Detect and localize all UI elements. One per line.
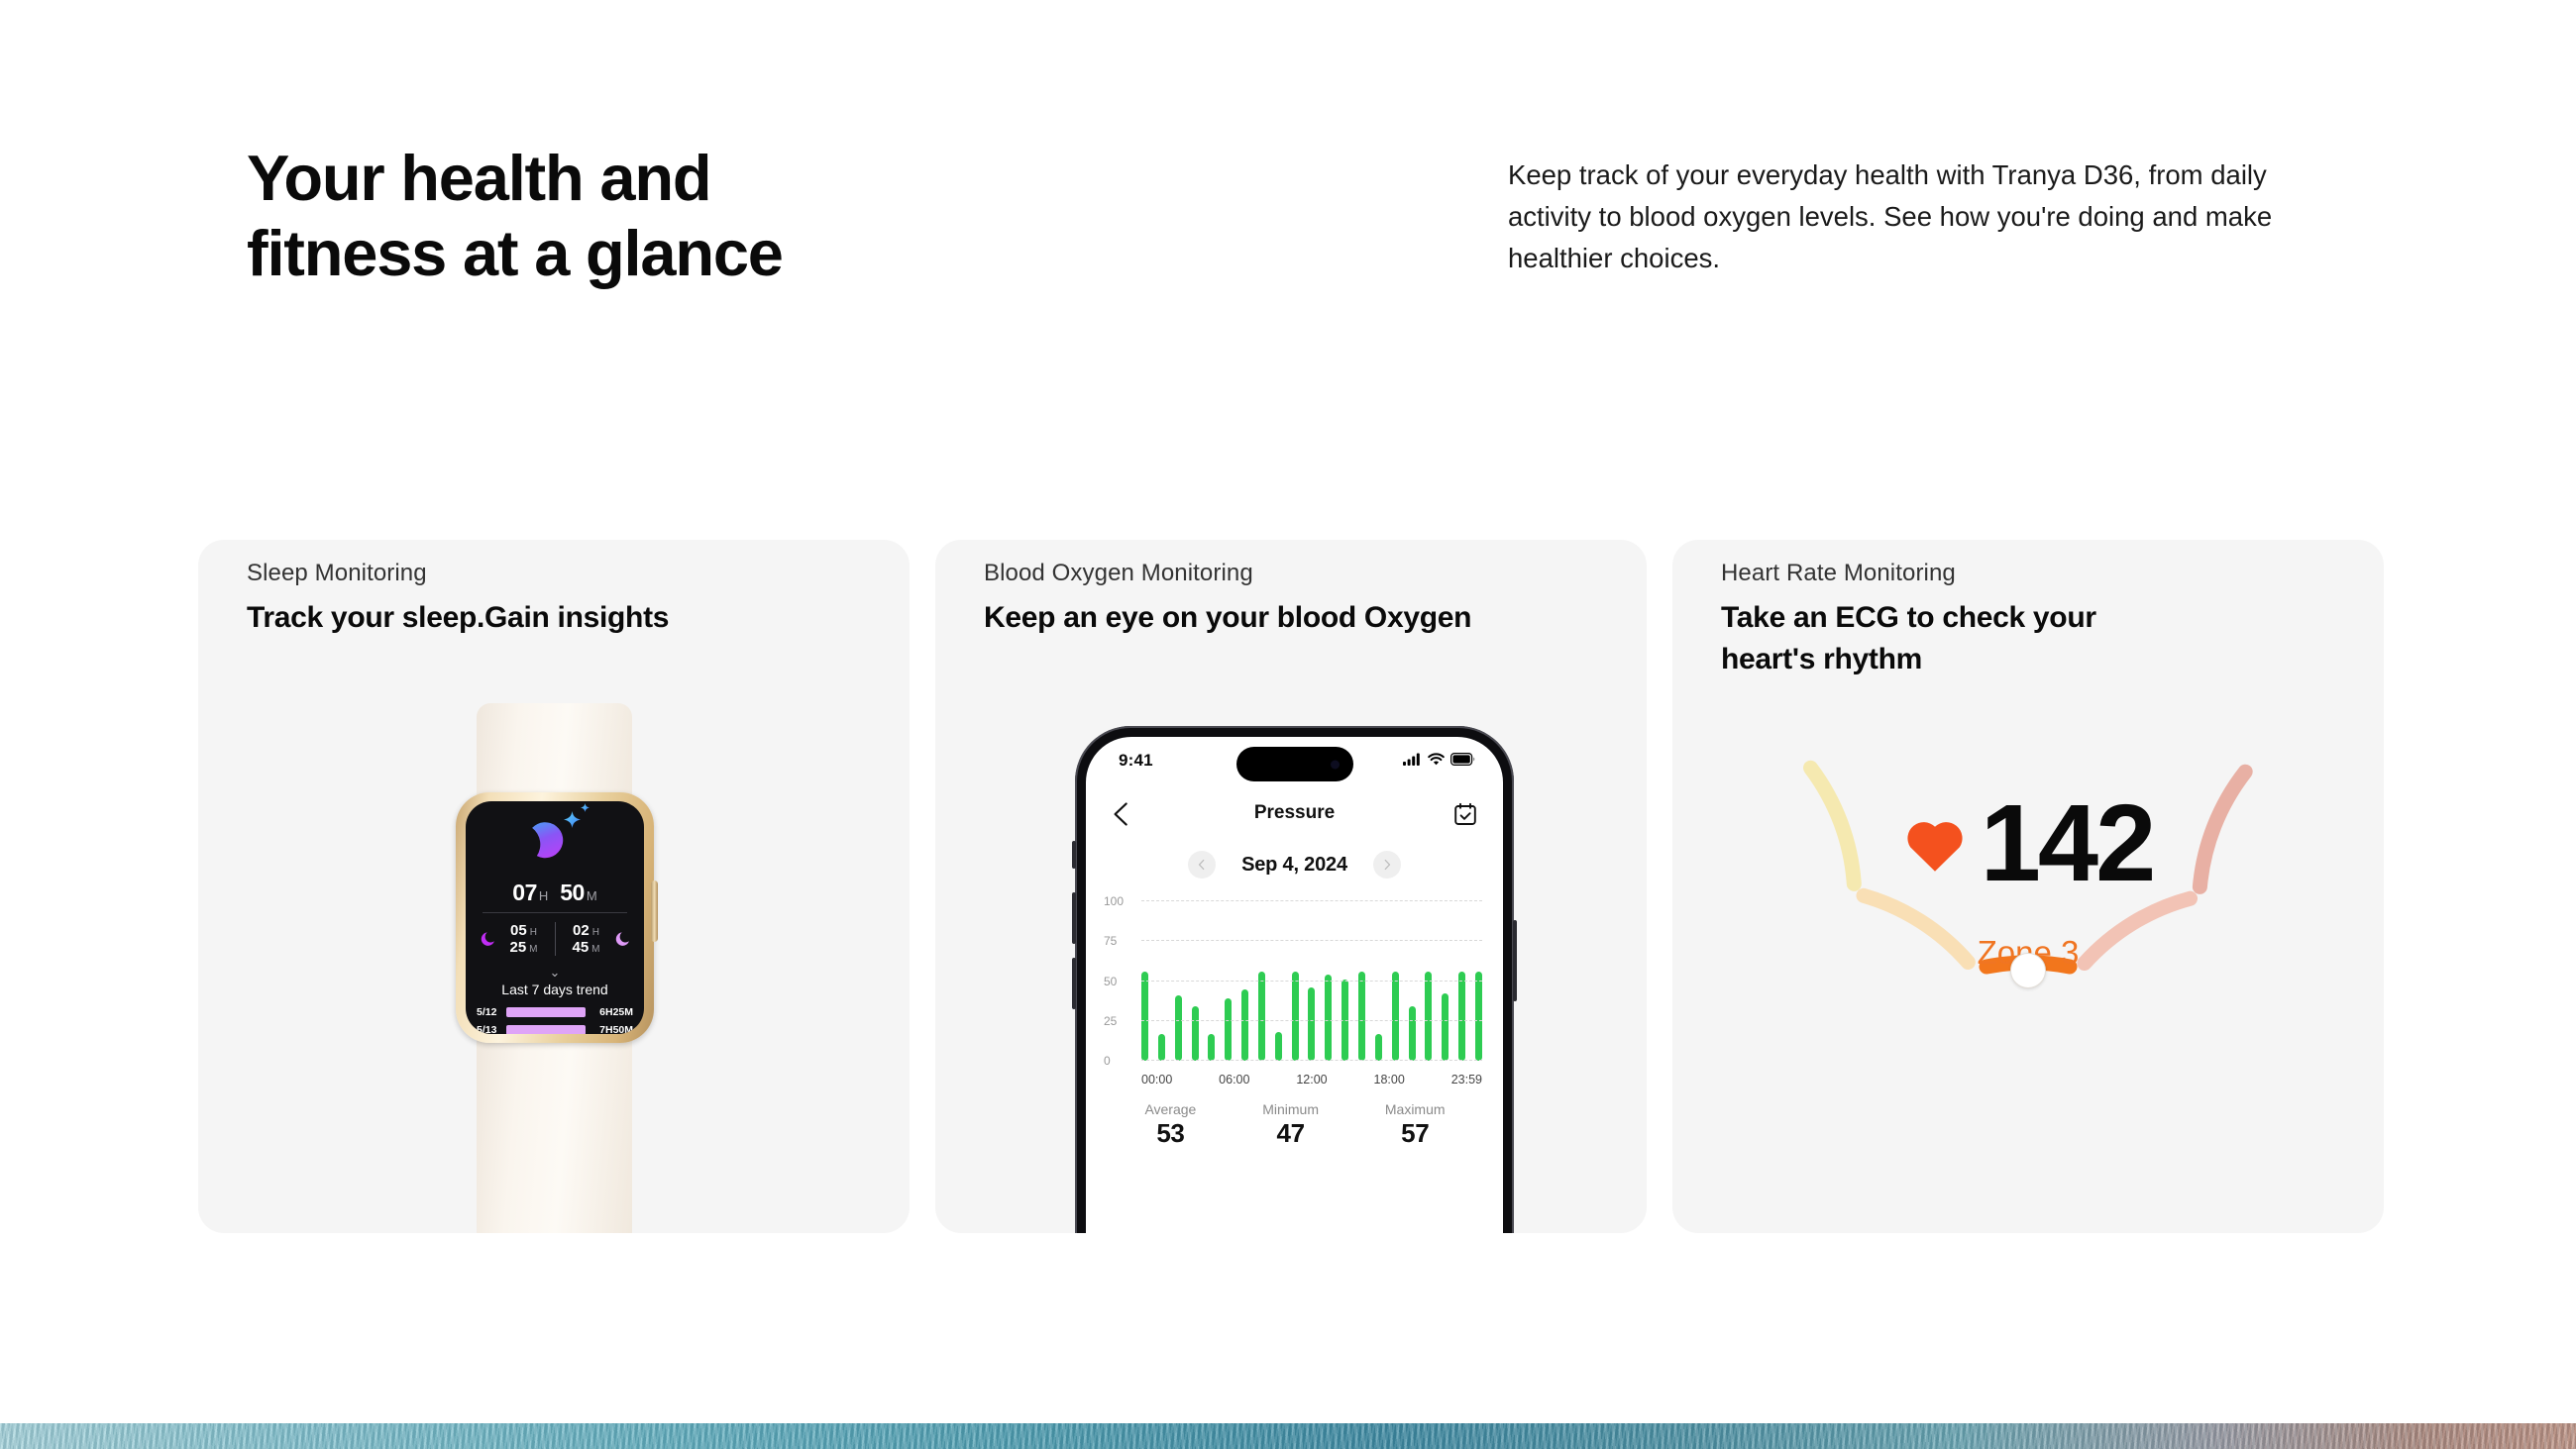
chart-bar xyxy=(1275,1032,1282,1061)
sleep-total-minutes: 50 xyxy=(560,880,585,905)
light-hours-unit: H xyxy=(592,927,599,938)
page-title: Your health and fitness at a glance xyxy=(247,141,783,291)
watch-band-bottom xyxy=(477,1027,632,1233)
chart-bar xyxy=(1392,972,1399,1061)
light-sleep-value: 02H 45M xyxy=(559,922,614,956)
chart-bar xyxy=(1158,1034,1165,1061)
card-eyebrow-blood-oxygen: Blood Oxygen Monitoring xyxy=(984,560,1253,587)
chart-bar xyxy=(1175,995,1182,1061)
status-bar: 9:41 xyxy=(1086,737,1503,790)
sleep-total-duration: 07H50M xyxy=(466,880,644,906)
sleep-total-hours: 07 xyxy=(512,880,537,905)
stat-maximum: Maximum 57 xyxy=(1385,1101,1446,1149)
power-button[interactable] xyxy=(1513,920,1517,1001)
x-axis-tick: 12:00 xyxy=(1296,1073,1327,1087)
chart-bar xyxy=(1258,972,1265,1061)
phone-mockup: 9:41 xyxy=(1075,726,1514,1233)
list-item: 5/12 6H25M xyxy=(477,1004,633,1019)
chart-bar xyxy=(1241,989,1248,1061)
smartwatch-illustration: 07H50M 05H 25M 02H xyxy=(198,540,910,1233)
deep-sleep-value: 05H 25M xyxy=(496,922,552,956)
x-axis-tick: 23:59 xyxy=(1451,1073,1482,1087)
trend-date: 5/13 xyxy=(477,1024,502,1035)
stat-minimum: Minimum 47 xyxy=(1262,1101,1319,1149)
sleep-total-minutes-unit: M xyxy=(587,888,597,903)
grid-line xyxy=(1141,1020,1482,1021)
chart-bar xyxy=(1375,1034,1382,1061)
status-time: 9:41 xyxy=(1119,751,1153,771)
card-title-heart-rate: Take an ECG to check your heart's rhythm xyxy=(1721,597,2335,680)
chart-bar xyxy=(1308,987,1315,1061)
next-day-button[interactable] xyxy=(1373,851,1401,879)
chart-bar xyxy=(1325,975,1332,1061)
grid-line xyxy=(1141,900,1482,901)
x-axis-tick: 06:00 xyxy=(1219,1073,1249,1087)
sleep-trend-list: 5/12 6H25M 5/13 7H50M xyxy=(477,1004,633,1034)
landing-page: Your health and fitness at a glance Keep… xyxy=(0,0,2576,1449)
stat-average: Average 53 xyxy=(1144,1101,1196,1149)
light-sleep-moon-icon xyxy=(614,931,631,948)
trend-bar xyxy=(506,1025,586,1035)
deep-sleep-moon-icon xyxy=(480,931,496,948)
page-subtitle: Keep track of your everyday health with … xyxy=(1508,155,2330,278)
watch-side-button[interactable] xyxy=(651,880,658,942)
nav-bar: Pressure xyxy=(1086,792,1503,840)
sparkle-small-icon xyxy=(581,803,590,812)
heart-rate-readout: 142 xyxy=(1672,789,2384,898)
selected-date: Sep 4, 2024 xyxy=(1241,854,1347,877)
stat-value: 47 xyxy=(1262,1118,1319,1149)
battery-icon xyxy=(1450,753,1475,766)
card-title-blood-oxygen: Keep an eye on your blood Oxygen xyxy=(984,597,1598,639)
feature-card-heart-rate[interactable]: Heart Rate Monitoring Take an ECG to che… xyxy=(1672,540,2384,1233)
light-hours: 02 xyxy=(573,922,590,939)
chart-bar xyxy=(1475,972,1482,1061)
chart-summary-stats: Average 53 Minimum 47 Maximum 57 xyxy=(1112,1101,1478,1149)
y-axis-tick: 0 xyxy=(1104,1054,1137,1068)
sparkle-large-icon xyxy=(564,811,581,828)
nav-title: Pressure xyxy=(1086,802,1503,824)
feature-card-grid: Sleep Monitoring Track your sleep.Gain i… xyxy=(0,540,2576,1233)
chart-bar xyxy=(1458,972,1465,1061)
grid-line xyxy=(1141,940,1482,941)
sleep-total-hours-unit: H xyxy=(539,888,548,903)
bottom-image-strip xyxy=(0,1423,2576,1449)
trend-value: 6H25M xyxy=(590,1006,633,1018)
deep-minutes-unit: M xyxy=(529,944,537,955)
grid-line xyxy=(1141,1060,1482,1061)
y-axis-tick: 75 xyxy=(1104,934,1137,948)
volume-up-button[interactable] xyxy=(1072,892,1076,944)
chart-bar xyxy=(1292,972,1299,1061)
chart-bars xyxy=(1141,901,1482,1061)
chart-bar xyxy=(1225,998,1232,1061)
chart-bar xyxy=(1192,1006,1199,1061)
chart-bar xyxy=(1425,972,1432,1061)
volume-down-button[interactable] xyxy=(1072,958,1076,1009)
date-selector: Sep 4, 2024 xyxy=(1086,851,1503,879)
list-item: 5/13 7H50M xyxy=(477,1022,633,1034)
chart-bar xyxy=(1141,972,1148,1061)
gauge-knob[interactable] xyxy=(2010,953,2046,988)
light-minutes-unit: M xyxy=(591,944,599,955)
stat-value: 57 xyxy=(1385,1118,1446,1149)
y-axis-tick: 100 xyxy=(1104,894,1137,908)
stat-value: 53 xyxy=(1144,1118,1196,1149)
trend-bar xyxy=(506,1007,586,1017)
heart-rate-widget: 142 Zone 3 xyxy=(1672,708,2384,1104)
sleep-stage-breakdown: 05H 25M 02H 45M xyxy=(466,922,644,956)
chart-x-axis: 00:0006:0012:0018:0023:59 xyxy=(1141,1073,1482,1087)
x-axis-tick: 18:00 xyxy=(1374,1073,1405,1087)
watch-screen: 07H50M 05H 25M 02H xyxy=(466,801,644,1034)
x-axis-tick: 00:00 xyxy=(1141,1073,1172,1087)
light-minutes: 45 xyxy=(572,939,589,956)
wifi-icon xyxy=(1428,753,1445,766)
deep-minutes: 25 xyxy=(509,939,526,956)
divider xyxy=(483,912,627,913)
stat-label: Average xyxy=(1144,1101,1196,1117)
stage-divider xyxy=(555,922,556,956)
chart-bar xyxy=(1358,972,1365,1061)
sleep-trend-label: Last 7 days trend xyxy=(466,982,644,997)
y-axis-tick: 25 xyxy=(1104,1014,1137,1028)
chart-plot-area: 0255075100 xyxy=(1141,901,1482,1061)
chart-bar xyxy=(1208,1034,1215,1061)
card-eyebrow-heart-rate: Heart Rate Monitoring xyxy=(1721,560,1956,587)
heart-icon xyxy=(1903,815,1967,873)
feature-card-blood-oxygen[interactable]: Blood Oxygen Monitoring Keep an eye on y… xyxy=(935,540,1647,1233)
status-indicators xyxy=(1403,753,1475,766)
trend-date: 5/12 xyxy=(477,1006,502,1018)
calendar-icon[interactable] xyxy=(1453,802,1477,826)
chart-bar xyxy=(1409,1006,1416,1061)
stat-label: Minimum xyxy=(1262,1101,1319,1117)
cellular-signal-icon xyxy=(1403,753,1422,766)
deep-hours: 05 xyxy=(510,922,527,939)
trend-value: 7H50M xyxy=(590,1024,633,1035)
phone-screen: 9:41 xyxy=(1086,737,1503,1233)
blood-oxygen-chart: 0255075100 00:0006:0012:0018:0023:59 xyxy=(1102,895,1488,1088)
stat-label: Maximum xyxy=(1385,1101,1446,1117)
heart-rate-value: 142 xyxy=(1981,789,2154,898)
y-axis-tick: 50 xyxy=(1104,975,1137,988)
deep-hours-unit: H xyxy=(530,927,537,938)
feature-card-sleep[interactable]: Sleep Monitoring Track your sleep.Gain i… xyxy=(198,540,910,1233)
grid-line xyxy=(1141,981,1482,982)
mute-switch[interactable] xyxy=(1072,841,1076,869)
chevron-down-icon[interactable]: ⌄ xyxy=(466,966,644,979)
chart-bar xyxy=(1442,993,1449,1061)
previous-day-button[interactable] xyxy=(1188,851,1216,879)
